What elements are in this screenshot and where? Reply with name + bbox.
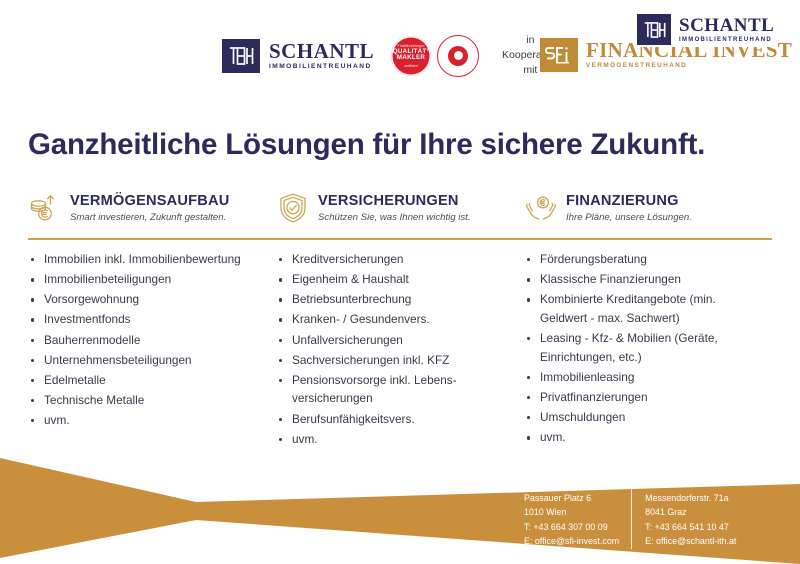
column-title: FINANZIERUNG <box>566 193 692 210</box>
list-item: Technische Metalle <box>28 391 260 410</box>
bullet-list: Kreditversicherungen Eigenheim & Haushal… <box>276 250 508 448</box>
office-phone[interactable]: T: +43 664 541 10 47 <box>645 520 736 535</box>
office-street: Messendorferstr. 71a <box>645 491 736 506</box>
column-subtitle: Smart investieren, Zukunft gestalten. <box>70 212 229 223</box>
column-subtitle: Ihre Pläne, unsere Lösungen. <box>566 212 692 223</box>
shield-check-icon <box>276 191 310 225</box>
list-item: Privatfinanzierungen <box>524 388 756 407</box>
service-column-finanzierung: FINANZIERUNG Ihre Pläne, unsere Lösungen… <box>524 186 772 230</box>
seal-mid-text: QUALITÄT° MAKLER <box>393 49 429 63</box>
list-item: Berufsunfähigkeitsvers. <box>276 410 508 429</box>
primary-logo: SCHANTL IMMOBILIENTREUHAND FirstMoveimmo… <box>222 33 559 79</box>
office-phone[interactable]: T: +43 664 307 00 09 <box>524 520 619 535</box>
hands-holding-coin-icon <box>524 191 558 225</box>
office-city: 8041 Graz <box>645 505 736 520</box>
list-item: Förderungsberatung <box>524 250 756 269</box>
corner-brand-tagline: IMMOBILIENTREUHAND <box>679 37 774 43</box>
list-item: uvm. <box>28 411 260 430</box>
contacts-divider <box>631 477 632 549</box>
partner-brand-tagline: VERMÖGENSTREUHAND <box>586 63 792 69</box>
qualitaets-makler-seal-icon: FirstMoveimmo QUALITÄT° MAKLER zertifizi… <box>391 36 431 76</box>
office-email[interactable]: E: office@schantl-ith.at <box>645 534 736 549</box>
list-item: Kombinierte Kreditangebote (min. Geldwer… <box>524 290 756 327</box>
service-column-vermoegensaufbau: VERMÖGENSAUFBAU Smart investieren, Zukun… <box>28 186 276 230</box>
column-title-group: VERMÖGENSAUFBAU Smart investieren, Zukun… <box>70 193 229 224</box>
list-column-vermoegensaufbau: Immobilien inkl. Immobilienbewertung Imm… <box>28 250 276 450</box>
column-header: VERMÖGENSAUFBAU Smart investieren, Zukun… <box>28 186 262 230</box>
list-item: Edelmetalle <box>28 371 260 390</box>
office-graz-block: Office Graz: Messendorferstr. 71a 8041 G… <box>632 476 736 549</box>
list-item: Pensionsvorsorge inkl. Lebens-versicheru… <box>276 371 508 408</box>
column-title-group: VERSICHERUNGEN Schützen Sie, was Ihnen w… <box>318 193 471 224</box>
office-city: 1010 Wien <box>524 505 619 520</box>
list-item: Immobilienleasing <box>524 368 756 387</box>
coins-euro-growth-icon <box>28 191 62 225</box>
list-column-finanzierung: Förderungsberatung Klassische Finanzieru… <box>524 250 772 450</box>
service-column-headers: VERMÖGENSAUFBAU Smart investieren, Zukun… <box>28 186 772 230</box>
list-column-versicherungen: Kreditversicherungen Eigenheim & Haushal… <box>276 250 524 450</box>
office-wien-block: Office Wien: Passauer Platz 6 1010 Wien … <box>524 476 631 549</box>
page-title: Ganzheitliche Lösungen für Ihre sichere … <box>28 128 705 162</box>
immobilienring-seal-icon <box>437 35 479 77</box>
ith-monogram-icon <box>222 39 260 73</box>
seal-bottom-text: zertifiziert <box>404 64 418 68</box>
bullet-list: Förderungsberatung Klassische Finanzieru… <box>524 250 756 447</box>
quality-seals: FirstMoveimmo QUALITÄT° MAKLER zertifizi… <box>391 35 479 77</box>
footer-contacts: Office Wien: Passauer Platz 6 1010 Wien … <box>524 476 736 549</box>
section-divider <box>28 238 772 240</box>
header: SCHANTL IMMOBILIENTREUHAND FirstMoveimmo… <box>0 0 800 100</box>
service-lists: Immobilien inkl. Immobilienbewertung Imm… <box>28 250 772 450</box>
office-email[interactable]: E: office@sfi-invest.com <box>524 534 619 549</box>
brand-tagline: IMMOBILIENTREUHAND <box>269 64 374 71</box>
list-item: Kreditversicherungen <box>276 250 508 269</box>
ith-monogram-corner-icon <box>637 14 671 45</box>
seal-top-text: FirstMoveimmo <box>397 44 424 48</box>
list-item: Klassische Finanzierungen <box>524 270 756 289</box>
list-item: Umschuldungen <box>524 408 756 427</box>
list-item: Kranken- / Gesundenvers. <box>276 310 508 329</box>
list-item: Bauherrenmodelle <box>28 331 260 350</box>
sfi-monogram-icon <box>540 38 578 72</box>
column-title-group: FINANZIERUNG Ihre Pläne, unsere Lösungen… <box>566 193 692 224</box>
list-item: Unternehmensbeteiligungen <box>28 351 260 370</box>
list-item: Investmentfonds <box>28 310 260 329</box>
column-title: VERSICHERUNGEN <box>318 193 471 210</box>
list-item: Betriebsunterbrechung <box>276 290 508 309</box>
list-item: Sachversicherungen inkl. KFZ <box>276 351 508 370</box>
primary-logo-text: SCHANTL IMMOBILIENTREUHAND <box>269 41 374 71</box>
column-subtitle: Schützen Sie, was Ihnen wichtig ist. <box>318 212 471 223</box>
office-name: Office Wien: <box>524 476 619 491</box>
office-street: Passauer Platz 6 <box>524 491 619 506</box>
list-item: Unfallversicherungen <box>276 331 508 350</box>
list-item: Leasing - Kfz- & Mobilien (Geräte, Einri… <box>524 329 756 366</box>
service-column-versicherungen: VERSICHERUNGEN Schützen Sie, was Ihnen w… <box>276 186 524 230</box>
seal-mid-line2: MAKLER <box>397 54 425 61</box>
list-item: Immobilien inkl. Immobilienbewertung <box>28 250 260 269</box>
column-header: VERSICHERUNGEN Schützen Sie, was Ihnen w… <box>276 186 510 230</box>
brand-name: SCHANTL <box>269 41 374 62</box>
list-item: Immobilienbeteiligungen <box>28 270 260 289</box>
seal-inner-mark <box>448 46 468 66</box>
office-name: Office Graz: <box>645 476 736 491</box>
flyer-page: SCHANTL IMMOBILIENTREUHAND FirstMoveimmo… <box>0 0 800 564</box>
corner-logo-text: SCHANTL IMMOBILIENTREUHAND <box>679 16 774 43</box>
list-item: Vorsorgewohnung <box>28 290 260 309</box>
list-item: Eigenheim & Haushalt <box>276 270 508 289</box>
corner-brand-name: SCHANTL <box>679 16 774 35</box>
column-header: FINANZIERUNG Ihre Pläne, unsere Lösungen… <box>524 186 758 230</box>
column-title: VERMÖGENSAUFBAU <box>70 193 229 210</box>
bullet-list: Immobilien inkl. Immobilienbewertung Imm… <box>28 250 260 430</box>
corner-logo: SCHANTL IMMOBILIENTREUHAND <box>637 12 776 47</box>
